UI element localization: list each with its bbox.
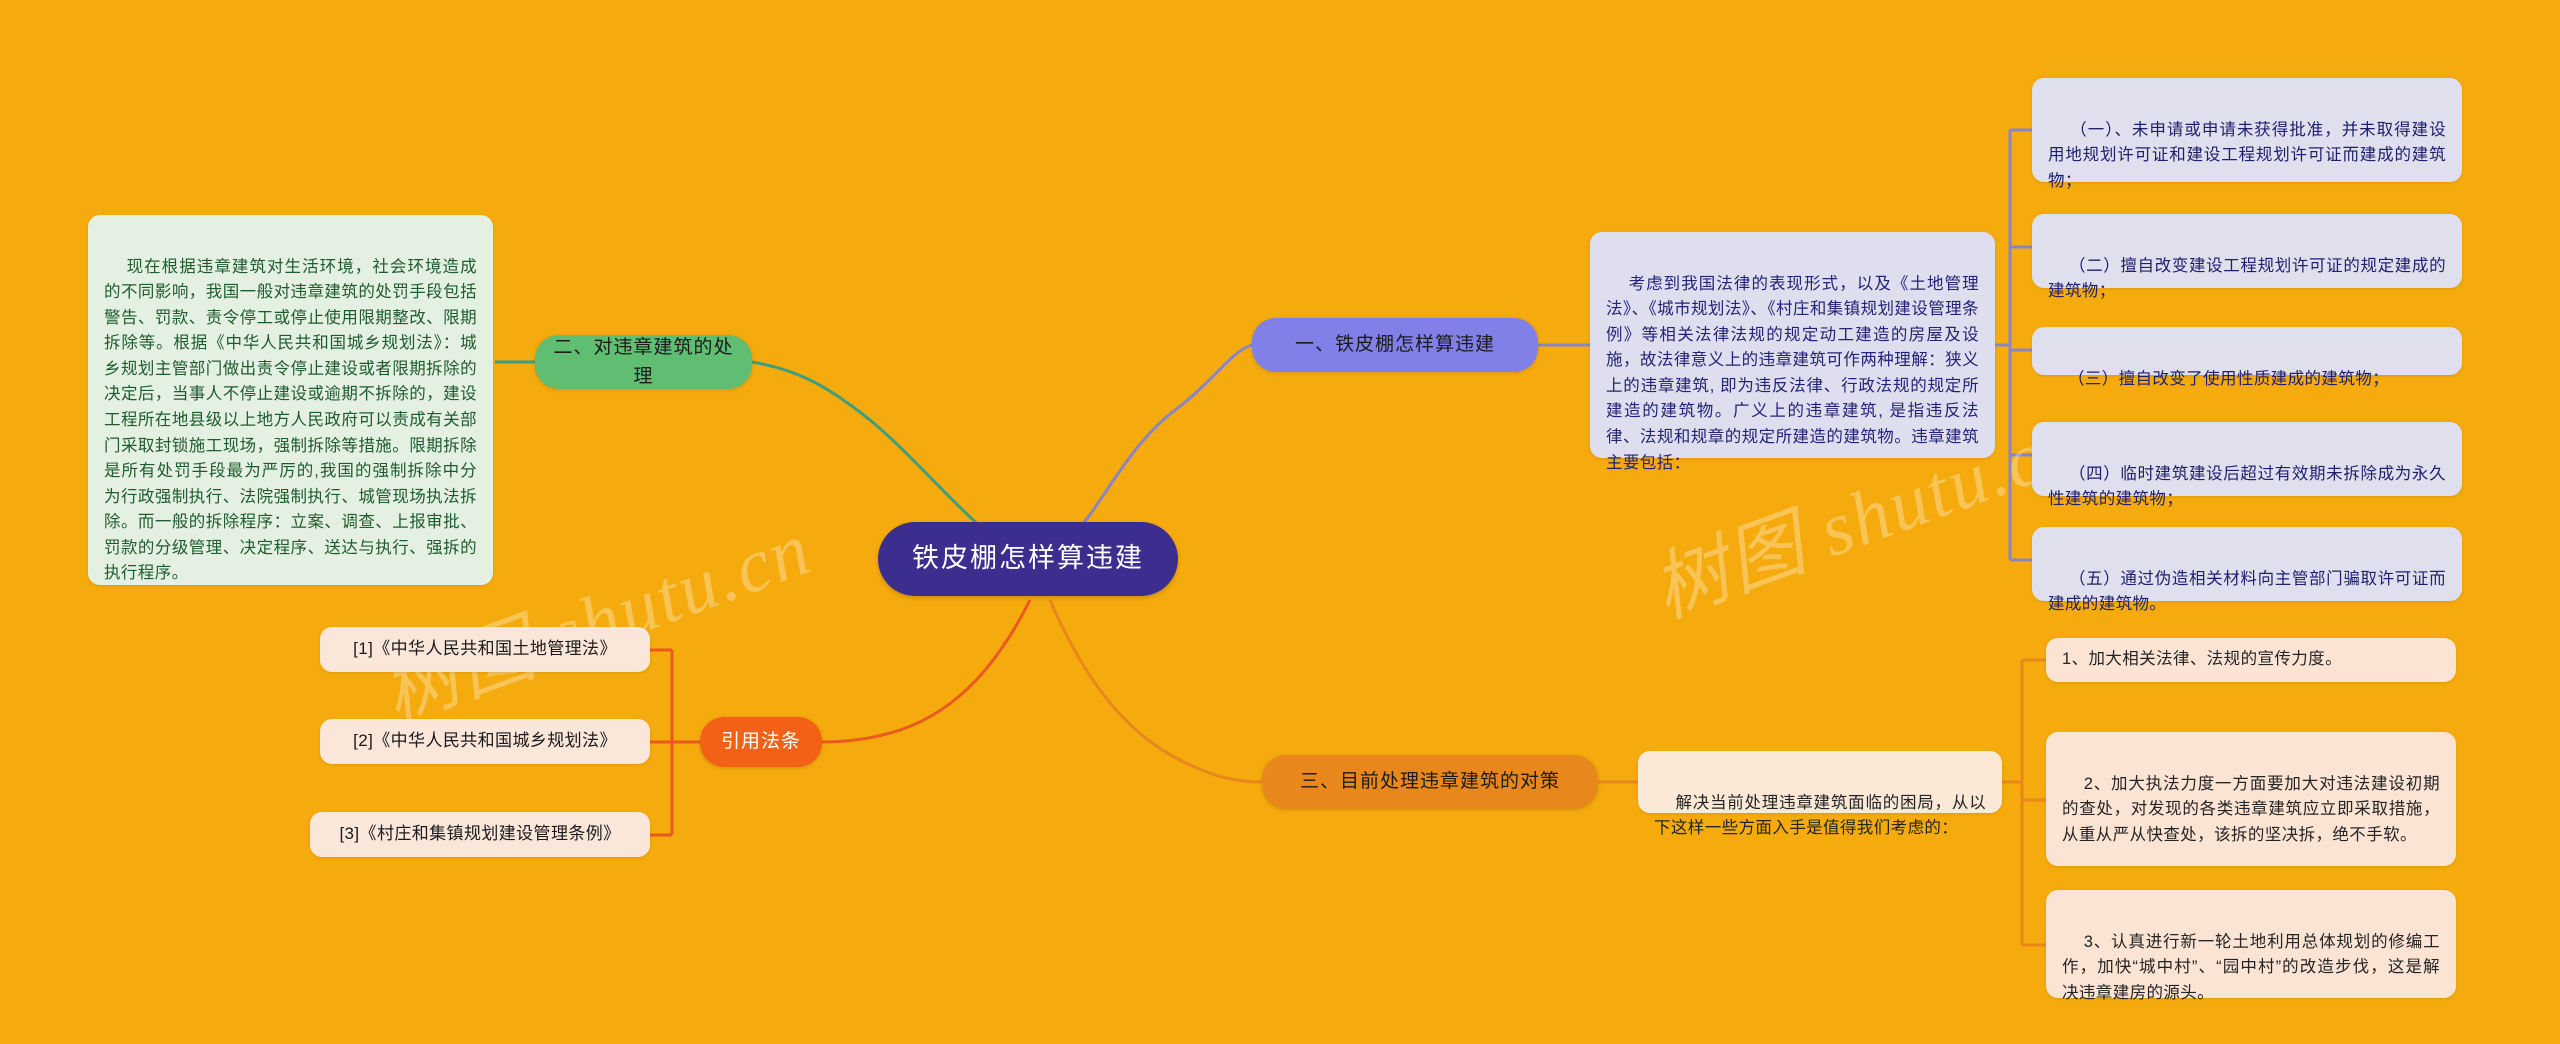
branch-1-item-4[interactable]: （四）临时建筑建设后超过有效期未拆除成为永久性建筑的建筑物； xyxy=(2032,422,2462,496)
branch-node-3[interactable]: 三、目前处理违章建筑的对策 xyxy=(1262,755,1598,809)
branch-1-item-1[interactable]: （一）、未申请或申请未获得批准，并未取得建设用地规划许可证和建设工程规划许可证而… xyxy=(2032,78,2462,182)
branch-3-item-1-text: 1、加大相关法律、法规的宣传力度。 xyxy=(2062,647,2342,673)
law-item-1[interactable]: [1]《中华人民共和国土地管理法》 xyxy=(320,627,650,672)
branch-1-item-3-text: （三）擅自改变了使用性质建成的建筑物； xyxy=(2068,370,2389,388)
branch-3-item-2-text: 2、加大执法力度一方面要加大对违法建设初期的查处，对发现的各类违章建筑应立即采取… xyxy=(2062,775,2440,844)
branch-node-2[interactable]: 二、对违章建筑的处理 xyxy=(535,335,752,389)
branch-2-body-text: 现在根据违章建筑对生活环境，社会环境造成的不同影响，我国一般对违章建筑的处罚手段… xyxy=(104,258,477,583)
branch-1-item-5-text: （五）通过伪造相关材料向主管部门骗取许可证而建成的建筑物。 xyxy=(2048,570,2446,614)
root-node[interactable]: 铁皮棚怎样算违建 xyxy=(878,522,1178,596)
branch-1-item-2[interactable]: （二）擅自改变建设工程规划许可证的规定建成的建筑物； xyxy=(2032,214,2462,288)
law-item-3[interactable]: [3]《村庄和集镇规划建设管理条例》 xyxy=(310,812,650,857)
branch-3-intro-card[interactable]: 解决当前处理违章建筑面临的困局，从以下这样一些方面入手是值得我们考虑的： xyxy=(1638,751,2002,813)
branch-1-item-4-text: （四）临时建筑建设后超过有效期未拆除成为永久性建筑的建筑物； xyxy=(2048,465,2446,509)
branch-node-1[interactable]: 一、铁皮棚怎样算违建 xyxy=(1252,318,1538,372)
branch-1-intro-text: 考虑到我国法律的表现形式，以及《土地管理法》、《城市规划法》、《村庄和集镇规划建… xyxy=(1606,275,1979,472)
law-item-1-text: [1]《中华人民共和国土地管理法》 xyxy=(353,636,617,662)
branch-1-item-2-text: （二）擅自改变建设工程规划许可证的规定建成的建筑物； xyxy=(2048,257,2446,301)
branch-3-item-3[interactable]: 3、认真进行新一轮土地利用总体规划的修编工作，加快“城中村”、“园中村”的改造步… xyxy=(2046,890,2456,998)
branch-3-label: 三、目前处理违章建筑的对策 xyxy=(1300,767,1560,796)
branch-1-intro-card[interactable]: 考虑到我国法律的表现形式，以及《土地管理法》、《城市规划法》、《村庄和集镇规划建… xyxy=(1590,232,1995,458)
branch-1-item-3[interactable]: （三）擅自改变了使用性质建成的建筑物； xyxy=(2032,327,2462,375)
root-label: 铁皮棚怎样算违建 xyxy=(912,538,1144,580)
branch-node-4[interactable]: 引用法条 xyxy=(700,717,822,767)
branch-1-item-1-text: （一）、未申请或申请未获得批准，并未取得建设用地规划许可证和建设工程规划许可证而… xyxy=(2048,121,2446,190)
branch-4-label: 引用法条 xyxy=(721,727,801,756)
law-item-2[interactable]: [2]《中华人民共和国城乡规划法》 xyxy=(320,719,650,764)
branch-3-item-1[interactable]: 1、加大相关法律、法规的宣传力度。 xyxy=(2046,638,2456,682)
law-item-3-text: [3]《村庄和集镇规划建设管理条例》 xyxy=(339,821,620,847)
branch-1-item-5[interactable]: （五）通过伪造相关材料向主管部门骗取许可证而建成的建筑物。 xyxy=(2032,527,2462,601)
law-item-2-text: [2]《中华人民共和国城乡规划法》 xyxy=(353,728,617,754)
branch-2-label: 二、对违章建筑的处理 xyxy=(549,333,738,392)
branch-2-body-card[interactable]: 现在根据违章建筑对生活环境，社会环境造成的不同影响，我国一般对违章建筑的处罚手段… xyxy=(88,215,493,585)
branch-3-item-2[interactable]: 2、加大执法力度一方面要加大对违法建设初期的查处，对发现的各类违章建筑应立即采取… xyxy=(2046,732,2456,866)
branch-3-item-3-text: 3、认真进行新一轮土地利用总体规划的修编工作，加快“城中村”、“园中村”的改造步… xyxy=(2062,933,2440,1002)
branch-1-label: 一、铁皮棚怎样算违建 xyxy=(1295,330,1495,359)
mindmap-canvas: 树图 shutu.cn 树图 shutu.cn 铁皮棚怎样算违建 一、铁皮棚怎样… xyxy=(0,0,2560,1044)
branch-3-intro-text: 解决当前处理违章建筑面临的困局，从以下这样一些方面入手是值得我们考虑的： xyxy=(1654,794,1986,838)
